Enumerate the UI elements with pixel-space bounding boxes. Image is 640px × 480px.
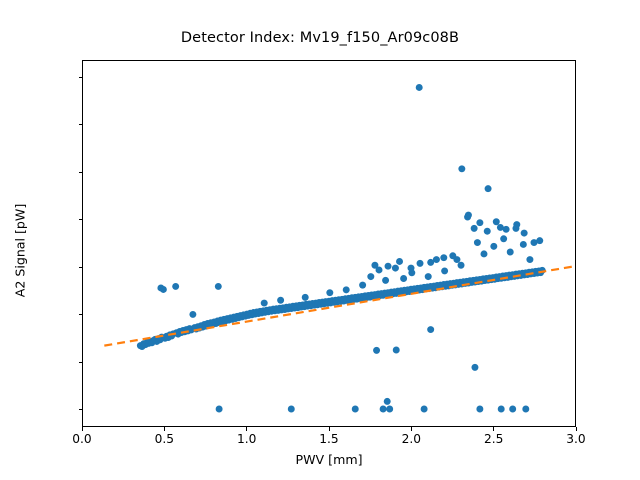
x-tick-mark [82, 427, 83, 431]
x-axis-label: PWV [mm] [82, 452, 576, 467]
y-tick-mark [79, 267, 83, 268]
x-tick-label: 0.5 [155, 432, 174, 446]
plot-area [82, 60, 576, 427]
y-tick-mark [79, 314, 83, 315]
y-tick-mark [79, 362, 83, 363]
page-title: Detector Index: Mv19_f150_Ar09c08B [0, 30, 640, 46]
y-tick-mark [79, 124, 83, 125]
x-tick-mark [246, 427, 247, 431]
trend-line [104, 266, 575, 345]
trend-line-layer [83, 61, 575, 426]
x-tick-mark [493, 427, 494, 431]
x-tick-mark [576, 427, 577, 431]
x-tick-label: 2.0 [402, 432, 421, 446]
x-tick-label: 0.0 [72, 432, 91, 446]
scatter-plot-figure: Detector Index: Mv19_f150_Ar09c08B 0.000… [0, 0, 640, 480]
x-tick-mark [329, 427, 330, 431]
y-tick-mark [79, 172, 83, 173]
x-tick-label: 3.0 [566, 432, 585, 446]
y-tick-mark [79, 219, 83, 220]
x-tick-label: 2.5 [484, 432, 503, 446]
x-tick-mark [164, 427, 165, 431]
y-tick-mark [79, 77, 83, 78]
x-tick-label: 1.0 [237, 432, 256, 446]
y-axis-label: A2 Signal [pW] [13, 171, 28, 331]
y-tick-mark [79, 409, 83, 410]
x-tick-mark [411, 427, 412, 431]
x-tick-label: 1.5 [319, 432, 338, 446]
